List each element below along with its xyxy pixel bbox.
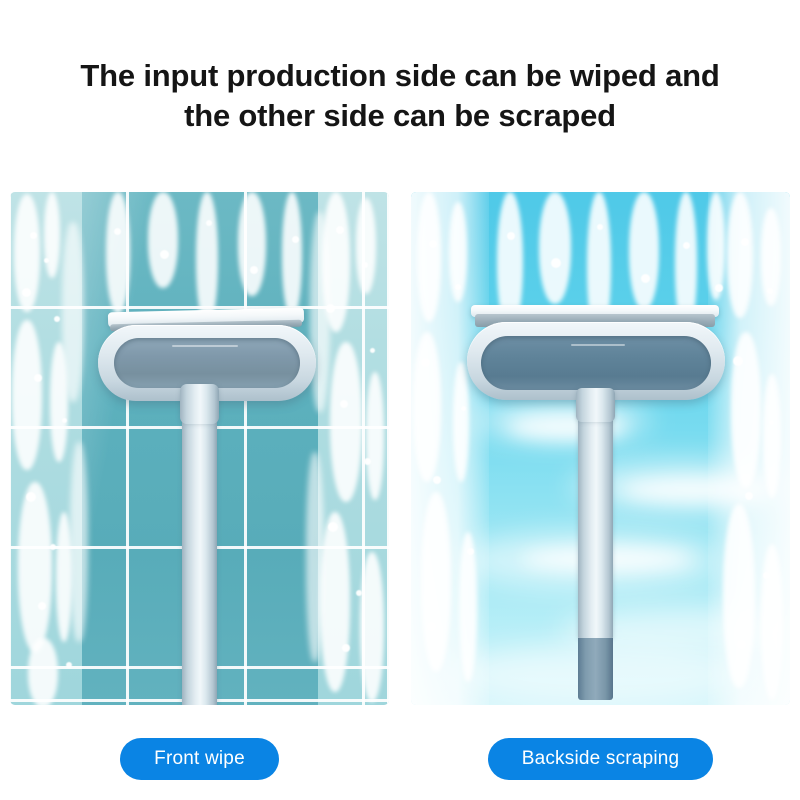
headline-line-1: The input production side can be wiped a…: [80, 58, 719, 93]
squeegee-handle: [182, 388, 217, 705]
caption-button-row: Front wipe Backside scraping: [10, 738, 790, 780]
squeegee-head-seam: [571, 344, 625, 346]
caption-cell-backside-scraping: Backside scraping: [411, 738, 790, 780]
comparison-panels: [10, 192, 790, 705]
squeegee-handle-grip: [578, 638, 613, 700]
caption-cell-front-wipe: Front wipe: [10, 738, 389, 780]
panel-front-wipe[interactable]: [10, 192, 389, 705]
squeegee-tool-backside: [411, 192, 790, 705]
backside-scraping-button[interactable]: Backside scraping: [488, 738, 714, 780]
front-wipe-button[interactable]: Front wipe: [120, 738, 279, 780]
squeegee-handle-neck: [180, 384, 219, 424]
squeegee-handle-neck: [576, 388, 615, 422]
squeegee-tool-front: [10, 192, 389, 705]
squeegee-handle: [578, 392, 613, 640]
squeegee-head-seam: [172, 345, 238, 347]
headline-line-2: the other side can be scraped: [38, 96, 762, 136]
page-title: The input production side can be wiped a…: [0, 56, 800, 135]
panel-backside-scraping[interactable]: [411, 192, 790, 705]
